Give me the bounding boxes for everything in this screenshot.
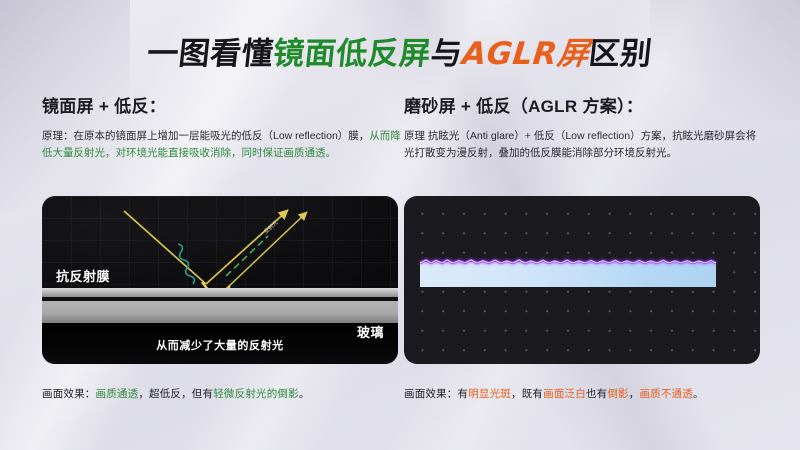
glass-layer — [42, 301, 398, 323]
left-caption-green-2: 轻微反射光的倒影 — [213, 388, 299, 400]
diagram-matte-screen — [404, 196, 760, 364]
left-description-black: 原理：在原本的镜面屏上增加一层能吸光的低反（Low reflection）膜， — [42, 130, 369, 142]
reflected-ray-2 — [227, 212, 307, 288]
title-part-2: 镜面低反屏 — [271, 28, 433, 73]
right-caption-prefix: 画面效果：有 — [404, 388, 468, 400]
label-diagram-bottom: 从而减少了大量的反射光 — [42, 337, 398, 353]
title-part-3: 与 — [429, 28, 465, 73]
right-caption: 画面效果：有明显光斑，既有画面泛白也有倒影，画质不通透。 — [404, 386, 704, 401]
label-anti-reflective-film: 抗反射膜 — [56, 266, 110, 285]
right-description: 原理 抗眩光（Anti glare）+ 低反（Low reflection）方案… — [404, 128, 766, 180]
right-caption-mid-2: 也有 — [586, 388, 607, 400]
left-heading: 镜面屏 + 低反： — [42, 92, 402, 117]
title-part-5: 区别 — [587, 28, 655, 73]
right-column: 磨砂屏 + 低反（AGLR 方案）： 原理 抗眩光（Anti glare）+ 低… — [404, 92, 766, 180]
right-caption-orange-1: 明显光斑 — [468, 388, 511, 400]
right-caption-orange-2: 画面泛白 — [543, 388, 586, 400]
right-caption-mid-1: ，既有 — [511, 388, 543, 400]
left-caption-green-1: 画质通透 — [96, 388, 139, 400]
title-part-1: 一图看懂 — [145, 28, 276, 73]
anti-reflective-film-layer — [42, 288, 398, 297]
right-heading: 磨砂屏 + 低反（AGLR 方案）： — [404, 92, 766, 117]
left-caption-prefix: 画面效果： — [42, 388, 96, 400]
diagram-mirror-screen: 反射光 抗反射膜 玻璃 从而减少了大量的反射光 — [42, 196, 398, 364]
absorbed-wave — [178, 244, 194, 284]
right-caption-orange-3: 倒影 — [607, 388, 628, 400]
page-title: 一图看懂镜面低反屏与AGLR屏区别 — [0, 28, 800, 73]
left-caption-mid-1: ，超低反，但有 — [138, 388, 213, 400]
left-column: 镜面屏 + 低反： 原理：在原本的镜面屏上增加一层能吸光的低反（Low refl… — [42, 92, 402, 180]
right-caption-orange-4: 画质不通透 — [639, 388, 693, 400]
right-caption-mid-3: ， — [629, 388, 640, 400]
diffuse-rough-edge — [418, 256, 718, 268]
title-part-4: AGLR屏 — [460, 28, 591, 73]
left-caption: 画面效果：画质通透，超低反，但有轻微反射光的倒影。 — [42, 386, 310, 401]
left-description: 原理：在原本的镜面屏上增加一层能吸光的低反（Low reflection）膜，从… — [42, 128, 402, 180]
right-caption-mid-4: 。 — [693, 388, 704, 400]
left-caption-mid-2: 。 — [299, 388, 310, 400]
incident-ray — [124, 211, 206, 284]
